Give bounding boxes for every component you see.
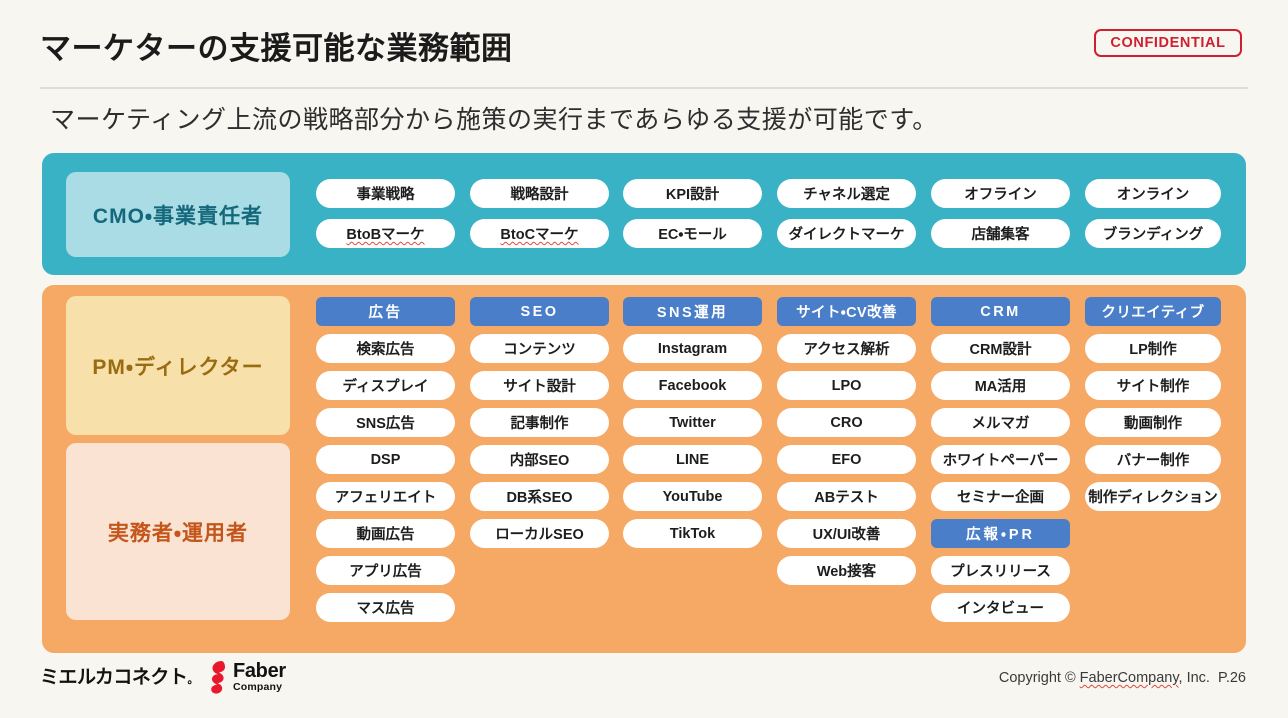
- task-pill[interactable]: Web接客: [777, 556, 916, 585]
- category-header-2[interactable]: SEO: [470, 297, 609, 326]
- faber-company-logo: Faber Company: [207, 660, 286, 694]
- faber-wordmark-line2: Company: [233, 682, 286, 693]
- confidential-badge: CONFIDENTIAL: [1094, 29, 1242, 57]
- task-pill[interactable]: 検索広告: [316, 334, 455, 363]
- task-pill[interactable]: CRO: [777, 408, 916, 437]
- task-pill[interactable]: アクセス解析: [777, 334, 916, 363]
- mieruka-connect-logo-dot: 。: [187, 674, 198, 686]
- task-pill[interactable]: インタビュー: [931, 593, 1070, 622]
- cmo-task-pill[interactable]: オンライン: [1085, 179, 1221, 208]
- copyright-prefix: Copyright ©: [999, 670, 1080, 686]
- task-pill[interactable]: サイト制作: [1085, 371, 1221, 400]
- category-header-5[interactable]: CRM: [931, 297, 1070, 326]
- task-pill[interactable]: SNS広告: [316, 408, 455, 437]
- cmo-task-pill[interactable]: ブランディング: [1085, 219, 1221, 248]
- role-label-operator: 実務者・運用者: [66, 443, 290, 620]
- faber-company-wordmark: Faber Company: [233, 661, 286, 693]
- task-pill[interactable]: ABテスト: [777, 482, 916, 511]
- task-pill[interactable]: YouTube: [623, 482, 762, 511]
- cmo-task-pill[interactable]: ダイレクトマーケ: [777, 219, 916, 248]
- task-pill[interactable]: LPO: [777, 371, 916, 400]
- page-subtitle: マーケティング上流の戦略部分から施策の実行まであらゆる支援が可能です。: [50, 104, 938, 137]
- task-pill[interactable]: セミナー企画: [931, 482, 1070, 511]
- task-pill[interactable]: EFO: [777, 445, 916, 474]
- task-pill[interactable]: Twitter: [623, 408, 762, 437]
- category-header-3[interactable]: SNS運用: [623, 297, 762, 326]
- cmo-task-pill[interactable]: BtoBマーケ: [316, 219, 455, 248]
- cmo-task-pill[interactable]: BtoCマーケ: [470, 219, 609, 248]
- task-pill[interactable]: サイト設計: [470, 371, 609, 400]
- task-pill[interactable]: 動画広告: [316, 519, 455, 548]
- role-label-cmo: CMO・事業責任者: [66, 172, 290, 257]
- task-pill[interactable]: DB系SEO: [470, 482, 609, 511]
- task-pill[interactable]: Facebook: [623, 371, 762, 400]
- task-pill[interactable]: UX/UI改善: [777, 519, 916, 548]
- task-pill[interactable]: バナー制作: [1085, 445, 1221, 474]
- mieruka-connect-logo-text: ミエルカコネクト: [40, 667, 187, 688]
- faber-mark-icon: [207, 660, 229, 694]
- cmo-task-pill[interactable]: 事業戦略: [316, 179, 455, 208]
- copyright-company: FaberCompany: [1080, 670, 1179, 686]
- task-pill[interactable]: ホワイトペーパー: [931, 445, 1070, 474]
- task-pill[interactable]: TikTok: [623, 519, 762, 548]
- role-label-pm: PM・ディレクター: [66, 296, 290, 435]
- task-pill[interactable]: マス広告: [316, 593, 455, 622]
- page-title: マーケターの支援可能な業務範囲: [40, 33, 513, 64]
- task-pill[interactable]: 記事制作: [470, 408, 609, 437]
- footer-logos: ミエルカコネクト。 Faber Company: [40, 660, 286, 694]
- cmo-task-pill[interactable]: チャネル選定: [777, 179, 916, 208]
- task-pill[interactable]: アフェリエイト: [316, 482, 455, 511]
- task-pill[interactable]: アプリ広告: [316, 556, 455, 585]
- slide-root: マーケターの支援可能な業務範囲 CONFIDENTIAL マーケティング上流の戦…: [0, 0, 1288, 718]
- task-pill[interactable]: DSP: [316, 445, 455, 474]
- task-pill[interactable]: 制作ディレクション: [1085, 482, 1221, 511]
- task-pill[interactable]: ディスプレイ: [316, 371, 455, 400]
- cmo-task-pill[interactable]: KPI設計: [623, 179, 762, 208]
- task-pill[interactable]: LINE: [623, 445, 762, 474]
- cmo-task-pill[interactable]: オフライン: [931, 179, 1070, 208]
- task-pill[interactable]: コンテンツ: [470, 334, 609, 363]
- task-pill[interactable]: 動画制作: [1085, 408, 1221, 437]
- mieruka-connect-logo: ミエルカコネクト。: [40, 668, 198, 687]
- task-pill[interactable]: メルマガ: [931, 408, 1070, 437]
- title-divider: [40, 87, 1248, 89]
- category-header-4[interactable]: サイト・CV改善: [777, 297, 916, 326]
- faber-wordmark-line1: Faber: [233, 661, 286, 681]
- cmo-task-pill[interactable]: 戦略設計: [470, 179, 609, 208]
- copyright-text: Copyright © FaberCompany, Inc. P.26: [999, 670, 1246, 686]
- task-pill[interactable]: ローカルSEO: [470, 519, 609, 548]
- task-pill[interactable]: Instagram: [623, 334, 762, 363]
- category-header-1[interactable]: 広告: [316, 297, 455, 326]
- page-number: P.26: [1218, 670, 1246, 686]
- cmo-task-pill[interactable]: EC・モール: [623, 219, 762, 248]
- task-pill[interactable]: MA活用: [931, 371, 1070, 400]
- task-pill[interactable]: プレスリリース: [931, 556, 1070, 585]
- copyright-suffix: , Inc.: [1179, 670, 1210, 686]
- cmo-task-pill[interactable]: 店舗集客: [931, 219, 1070, 248]
- task-pill[interactable]: CRM設計: [931, 334, 1070, 363]
- task-pill[interactable]: 内部SEO: [470, 445, 609, 474]
- task-pill[interactable]: LP制作: [1085, 334, 1221, 363]
- category-header-6[interactable]: クリエイティブ: [1085, 297, 1221, 326]
- category-subheader[interactable]: 広報・PR: [931, 519, 1070, 548]
